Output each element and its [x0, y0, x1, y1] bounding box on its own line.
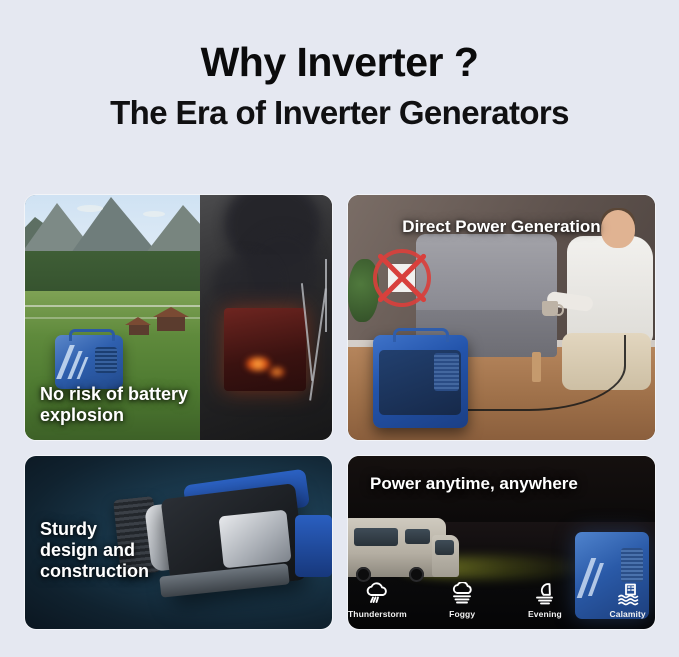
evening-icon [532, 582, 558, 606]
thunderstorm-icon [364, 582, 390, 606]
cable [325, 259, 327, 333]
panel-caption: Direct Power Generation [348, 217, 655, 237]
burning-battery-box [224, 308, 306, 391]
rv-windshield [435, 540, 454, 555]
condition-item-evening[interactable]: Evening [518, 582, 573, 619]
scene-burning-battery [200, 195, 332, 440]
caption-line: explosion [40, 405, 188, 426]
caption-line: Power anytime, anywhere [370, 474, 578, 493]
rv-cab [432, 535, 459, 577]
person-torso [567, 236, 653, 345]
inverter-generator-blue [55, 335, 123, 389]
inverter-generator-indoor [373, 335, 468, 428]
caption-line: Sturdy [40, 518, 149, 539]
generator-handle [393, 328, 448, 342]
panel-direct-power-generation[interactable]: Direct Power Generation [348, 195, 655, 440]
generator-vent [434, 353, 459, 390]
hut-body [157, 317, 185, 331]
calamity-icon [615, 582, 641, 606]
hut-roof [125, 317, 151, 325]
rv-wheel [409, 567, 424, 582]
blue-housing-part [295, 515, 332, 577]
panel-no-battery-explosion[interactable]: No risk of battery explosion [25, 195, 332, 440]
panel-sturdy-design[interactable]: Sturdy design and construction [25, 456, 332, 629]
ember-glow [269, 367, 285, 377]
condition-label: Foggy [435, 609, 490, 619]
condition-item-calamity[interactable]: Calamity [600, 582, 655, 619]
condition-label: Calamity [600, 609, 655, 619]
panel-caption: Sturdy design and construction [40, 518, 149, 582]
page-header: Why Inverter ? The Era of Inverter Gener… [0, 0, 679, 129]
rv-window [405, 529, 430, 544]
panel-caption: Power anytime, anywhere [370, 474, 578, 494]
condition-label: Evening [518, 609, 573, 619]
smoke-plume [213, 254, 276, 313]
condition-item-thunderstorm[interactable]: Thunderstorm [348, 582, 407, 619]
snow-cap [77, 205, 103, 212]
panel-power-anytime-anywhere[interactable]: Power anytime, anywhere Thunderstorm Fog… [348, 456, 655, 629]
generator-vent [95, 347, 117, 373]
caption-line: No risk of battery [40, 384, 188, 405]
hut-roof [153, 307, 189, 317]
generator-vent [621, 548, 643, 583]
rv-camper [348, 518, 446, 577]
panel-caption: No risk of battery explosion [40, 384, 188, 426]
coffee-mug [542, 301, 558, 316]
generator-handle [69, 329, 115, 341]
no-battery-icon [373, 249, 431, 307]
hut-body [129, 325, 149, 335]
engine-silver-part [219, 510, 292, 569]
rv-window [354, 528, 398, 547]
snow-cap [143, 211, 165, 217]
condition-icon-row: Thunderstorm Foggy Evening [348, 582, 655, 619]
caption-line: construction [40, 561, 149, 582]
page-subtitle: The Era of Inverter Generators [0, 96, 679, 129]
page-title: Why Inverter ? [0, 42, 679, 83]
sofa-back [416, 234, 557, 310]
caption-line: Direct Power Generation [402, 217, 600, 236]
ember-glow [245, 357, 271, 371]
feature-panel-grid: No risk of battery explosion [25, 195, 655, 629]
condition-label: Thunderstorm [348, 609, 407, 619]
rv-wheel [356, 567, 371, 582]
condition-item-foggy[interactable]: Foggy [435, 582, 490, 619]
fog-icon [449, 582, 475, 606]
caption-line: design and [40, 540, 149, 561]
